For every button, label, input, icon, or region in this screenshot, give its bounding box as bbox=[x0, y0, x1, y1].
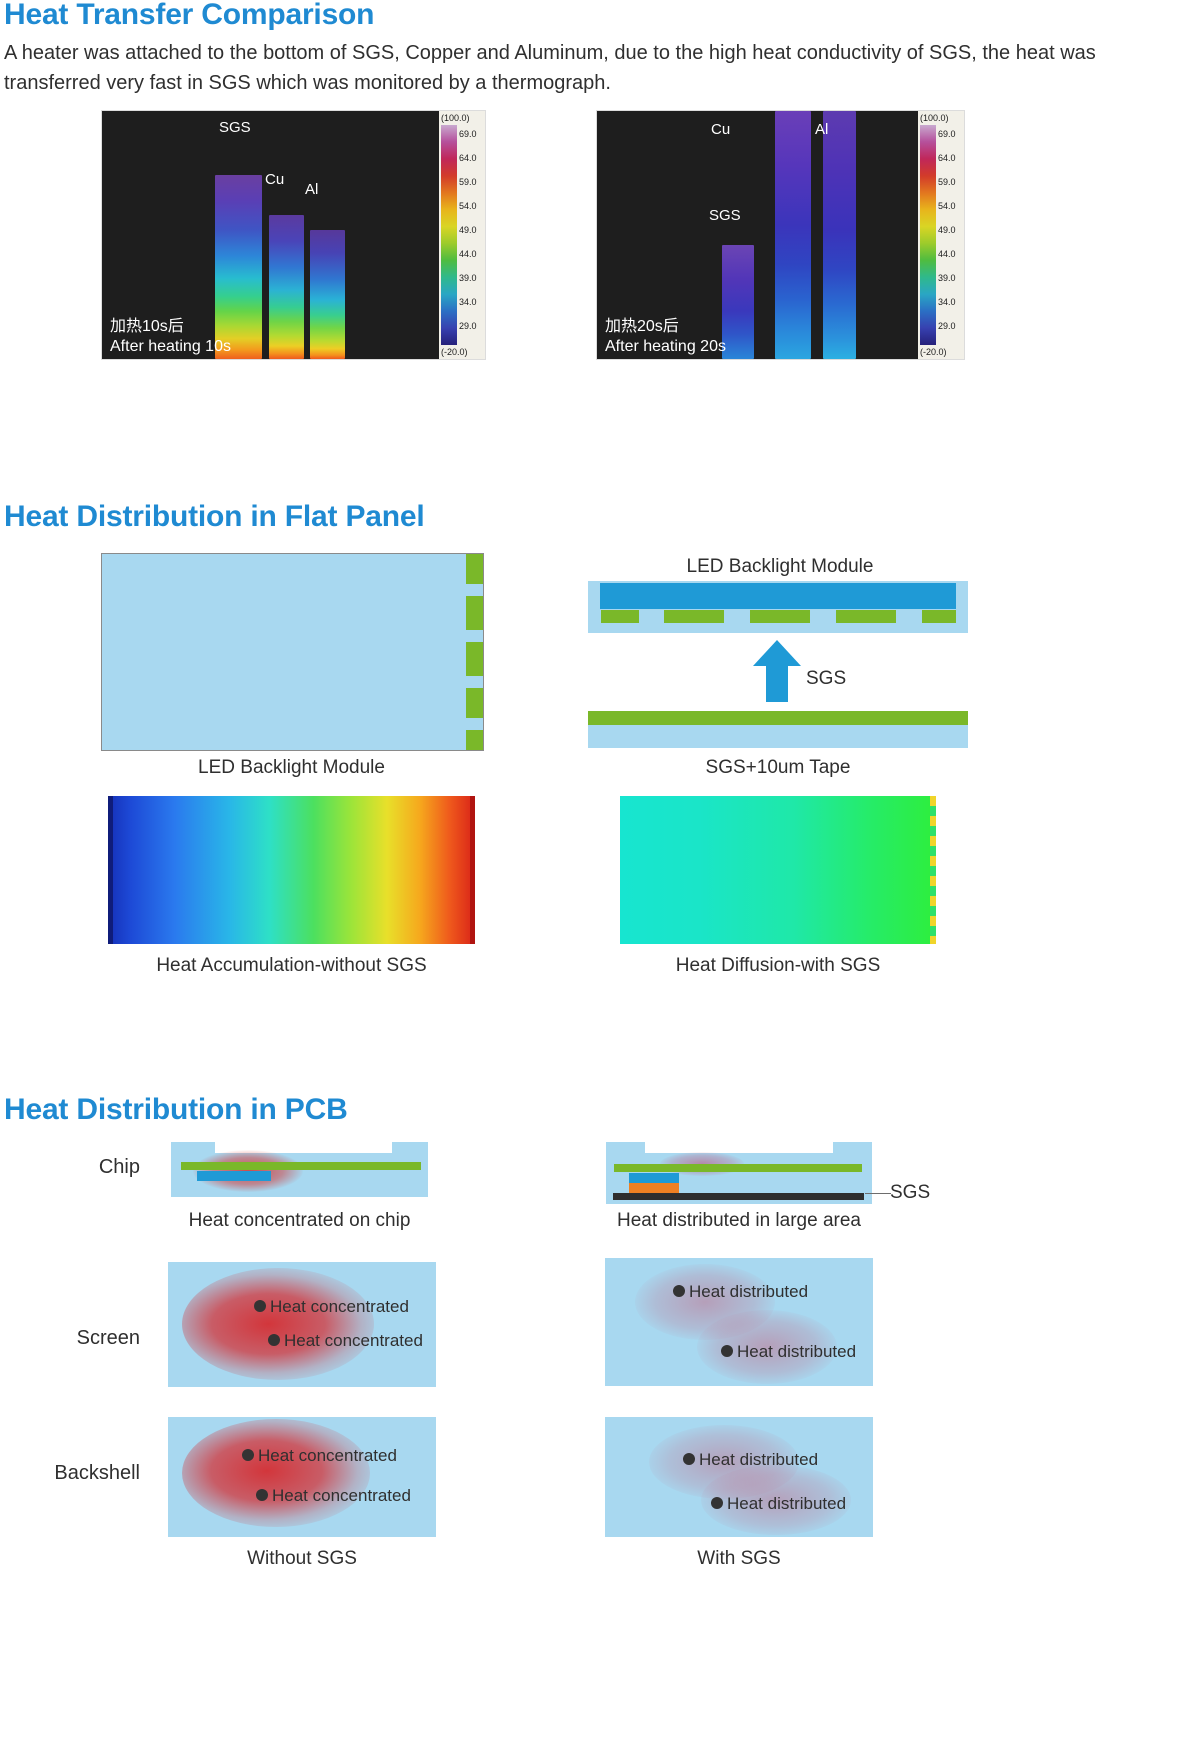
bar-label-sgs: SGS bbox=[709, 207, 741, 224]
heat-marker-dot bbox=[711, 1497, 723, 1509]
temperature-colorbar bbox=[441, 125, 457, 345]
screen-heatmap-with-sgs: Heat distributed Heat distributed bbox=[605, 1258, 873, 1386]
scale-bottom-value: (-20.0) bbox=[920, 347, 947, 357]
led-segment bbox=[922, 610, 956, 623]
heat-marker-label: Heat concentrated bbox=[284, 1331, 423, 1351]
stamp-cn-10s: 加热10s后 bbox=[110, 317, 184, 337]
bar-sgs bbox=[722, 245, 754, 359]
caption-sgs-tape: SGS+10um Tape bbox=[588, 757, 968, 779]
scale-tick: 69.0 bbox=[938, 129, 956, 139]
caption-heat-accumulation: Heat Accumulation-without SGS bbox=[108, 955, 475, 977]
heatmap-with-sgs bbox=[620, 796, 936, 944]
heat-marker-dot bbox=[268, 1334, 280, 1346]
sgs-leader-line bbox=[865, 1193, 891, 1194]
scale-tick: 44.0 bbox=[459, 249, 477, 259]
scale-tick: 59.0 bbox=[459, 177, 477, 187]
sgs-layer bbox=[613, 1193, 864, 1200]
scale-top-value: (100.0) bbox=[441, 113, 470, 123]
arrow-label-sgs: SGS bbox=[806, 668, 846, 690]
scale-tick: 44.0 bbox=[938, 249, 956, 259]
label-sgs: SGS bbox=[890, 1182, 930, 1204]
pcb-board-layer bbox=[614, 1164, 862, 1172]
heat-marker-label: Heat concentrated bbox=[272, 1486, 411, 1506]
sgs-arrow-stem bbox=[766, 664, 788, 702]
screen-heatmap-without-sgs: Heat concentrated Heat concentrated bbox=[168, 1262, 436, 1387]
scale-tick: 29.0 bbox=[938, 321, 956, 331]
heat-marker-dot bbox=[683, 1453, 695, 1465]
bar-al bbox=[310, 230, 345, 359]
pcb-cross-section-without-sgs bbox=[171, 1142, 428, 1197]
stamp-en-20s: After heating 20s bbox=[605, 337, 726, 357]
bar-al bbox=[823, 111, 856, 359]
led-segment bbox=[836, 610, 896, 623]
pcb-notch bbox=[645, 1142, 833, 1153]
heat-marker-dot bbox=[256, 1489, 268, 1501]
heat-transfer-paragraph: A heater was attached to the bottom of S… bbox=[4, 38, 1174, 98]
caption-led-backlight-module: LED Backlight Module bbox=[101, 757, 482, 779]
section-title-pcb: Heat Distribution in PCB bbox=[4, 1093, 348, 1127]
heat-marker-label: Heat distributed bbox=[737, 1342, 856, 1362]
heatmap-left-edge bbox=[108, 796, 113, 944]
heat-glow bbox=[182, 1419, 370, 1527]
label-led-backlight-module-top: LED Backlight Module bbox=[600, 556, 960, 578]
led-segment bbox=[466, 554, 483, 584]
heatmap-right-edge bbox=[470, 796, 475, 944]
scale-tick: 64.0 bbox=[459, 153, 477, 163]
temperature-scale-20s: (100.0) 69.0 64.0 59.0 54.0 49.0 44.0 39… bbox=[918, 111, 964, 359]
led-segment bbox=[750, 610, 810, 623]
scale-tick: 54.0 bbox=[938, 201, 956, 211]
heat-marker-dot bbox=[673, 1285, 685, 1297]
led-segment bbox=[601, 610, 639, 623]
heat-marker-dot bbox=[254, 1300, 266, 1312]
thermograph-10s: SGS Cu Al 加热10s后 After heating 10s (100.… bbox=[101, 110, 486, 360]
bar-label-al: Al bbox=[305, 181, 318, 198]
section-title-flat-panel: Heat Distribution in Flat Panel bbox=[4, 500, 425, 534]
heat-marker-label: Heat distributed bbox=[727, 1494, 846, 1514]
scale-bottom-value: (-20.0) bbox=[441, 347, 468, 357]
row-label-backshell: Backshell bbox=[20, 1462, 140, 1485]
scale-tick: 34.0 bbox=[459, 297, 477, 307]
bar-cu bbox=[269, 215, 304, 359]
bar-label-cu: Cu bbox=[711, 121, 730, 138]
scale-top-value: (100.0) bbox=[920, 113, 949, 123]
caption-without-sgs: Without SGS bbox=[168, 1548, 436, 1570]
sgs-arrow-head bbox=[753, 640, 801, 666]
stamp-en-10s: After heating 10s bbox=[110, 337, 231, 357]
heat-marker-label: Heat concentrated bbox=[258, 1446, 397, 1466]
chip-component bbox=[197, 1171, 271, 1181]
thermograph-20s: Cu Al SGS 加热20s后 After heating 20s (100.… bbox=[596, 110, 965, 360]
heat-marker-dot bbox=[721, 1345, 733, 1357]
heatmap-without-sgs bbox=[108, 796, 475, 944]
heat-glow bbox=[182, 1268, 374, 1380]
sgs-layer-bar bbox=[588, 711, 968, 725]
heatmap-right-edge bbox=[930, 796, 936, 944]
caption-with-sgs: With SGS bbox=[605, 1548, 873, 1570]
bar-label-sgs: SGS bbox=[219, 119, 251, 136]
led-segment bbox=[664, 610, 724, 623]
scale-tick: 49.0 bbox=[938, 225, 956, 235]
caption-heat-concentrated-on-chip: Heat concentrated on chip bbox=[171, 1210, 428, 1232]
bar-label-cu: Cu bbox=[265, 171, 284, 188]
heat-marker-label: Heat concentrated bbox=[270, 1297, 409, 1317]
scale-tick: 29.0 bbox=[459, 321, 477, 331]
backshell-heatmap-with-sgs: Heat distributed Heat distributed bbox=[605, 1417, 873, 1537]
row-label-screen: Screen bbox=[40, 1327, 140, 1350]
heat-marker-label: Heat distributed bbox=[699, 1450, 818, 1470]
led-segment bbox=[466, 596, 483, 630]
pcb-cross-section-with-sgs bbox=[606, 1142, 872, 1204]
heat-marker-dot bbox=[242, 1449, 254, 1461]
caption-heat-diffusion: Heat Diffusion-with SGS bbox=[620, 955, 936, 977]
tape-layer-bar bbox=[588, 725, 968, 748]
led-module-bar bbox=[600, 583, 956, 609]
backshell-heatmap-without-sgs: Heat concentrated Heat concentrated bbox=[168, 1417, 436, 1537]
led-segment bbox=[466, 688, 483, 718]
section-title-heat-transfer: Heat Transfer Comparison bbox=[4, 0, 374, 32]
bar-sgs bbox=[215, 175, 262, 359]
temperature-scale-10s: (100.0) 69.0 64.0 59.0 54.0 49.0 44.0 39… bbox=[439, 111, 485, 359]
stamp-cn-20s: 加热20s后 bbox=[605, 317, 679, 337]
row-label-chip: Chip bbox=[40, 1156, 140, 1179]
chip-component bbox=[629, 1173, 679, 1183]
scale-tick: 34.0 bbox=[938, 297, 956, 307]
bar-cu bbox=[775, 111, 811, 359]
led-backlight-panel-diagram bbox=[101, 553, 484, 751]
caption-heat-distributed-large-area: Heat distributed in large area bbox=[606, 1210, 872, 1232]
scale-tick: 49.0 bbox=[459, 225, 477, 235]
led-segment bbox=[466, 642, 483, 676]
temperature-colorbar bbox=[920, 125, 936, 345]
scale-tick: 59.0 bbox=[938, 177, 956, 187]
heat-marker-label: Heat distributed bbox=[689, 1282, 808, 1302]
scale-tick: 64.0 bbox=[938, 153, 956, 163]
scale-tick: 39.0 bbox=[459, 273, 477, 283]
led-segment bbox=[466, 730, 483, 750]
scale-tick: 54.0 bbox=[459, 201, 477, 211]
bar-label-al: Al bbox=[815, 121, 828, 138]
scale-tick: 39.0 bbox=[938, 273, 956, 283]
thermal-interface-layer bbox=[629, 1183, 679, 1193]
pcb-board-layer bbox=[181, 1162, 421, 1170]
scale-tick: 69.0 bbox=[459, 129, 477, 139]
